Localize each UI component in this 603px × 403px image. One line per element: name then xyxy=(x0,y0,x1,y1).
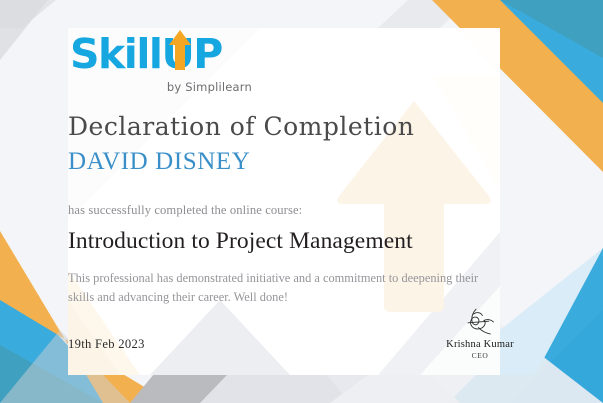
recipient-name: DAVID DISNEY xyxy=(68,148,250,176)
signature-block: Krishna Kumar CEO xyxy=(425,306,535,360)
issue-date: 19th Feb 2023 xyxy=(68,337,145,352)
certificate-canvas: SkillUP by Simplilearn Declaration of Co… xyxy=(0,0,603,403)
handwritten-signature-icon xyxy=(452,306,508,338)
skillup-logo: SkillUP by Simplilearn xyxy=(70,30,260,102)
course-title: Introduction to Project Management xyxy=(68,228,413,255)
logo-up-arrow-icon xyxy=(167,28,193,72)
completion-line: has successfully completed the online co… xyxy=(68,203,302,218)
signer-name: Krishna Kumar xyxy=(425,339,535,350)
logo-wordmark: SkillUP xyxy=(70,34,222,75)
description-text: This professional has demonstrated initi… xyxy=(68,269,498,307)
signer-role: CEO xyxy=(425,351,535,360)
logo-tagline: by Simplilearn xyxy=(167,80,252,94)
declaration-heading: Declaration of Completion xyxy=(68,112,414,141)
